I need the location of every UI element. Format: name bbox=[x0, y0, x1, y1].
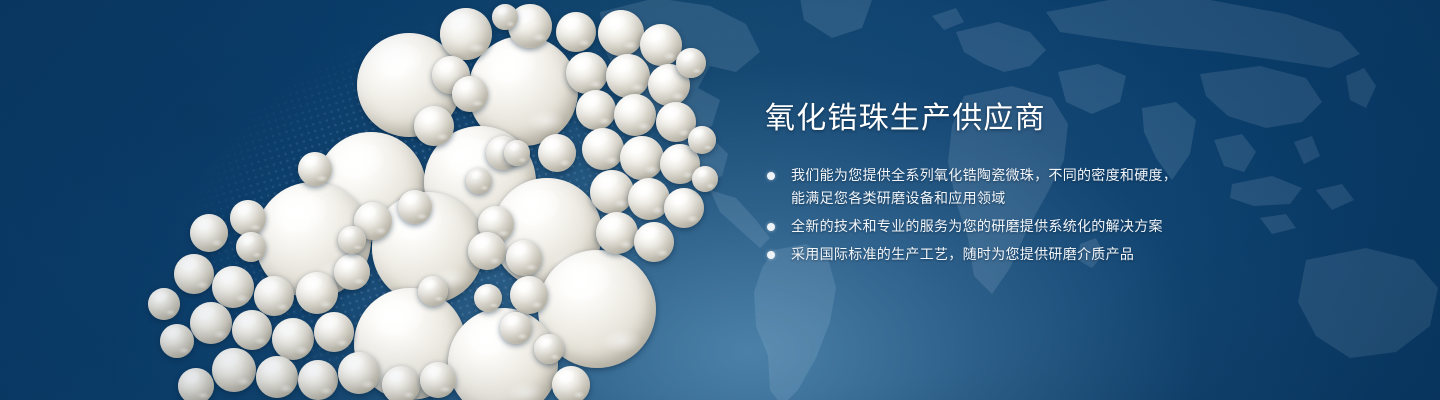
bullet-dot-icon bbox=[767, 172, 775, 180]
list-item-line: 采用国际标准的生产工艺，随时为您提供研磨介质产品 bbox=[791, 243, 1385, 266]
list-item: 全新的技术和专业的服务为您的研磨提供系统化的解决方案 bbox=[765, 215, 1385, 238]
bullet-dot-icon bbox=[767, 251, 775, 259]
list-item-line: 我们能为您提供全系列氧化锆陶瓷微珠，不同的密度和硬度， bbox=[791, 164, 1385, 187]
promo-banner: 氧化锆珠生产供应商 我们能为您提供全系列氧化锆陶瓷微珠，不同的密度和硬度， 能满… bbox=[0, 0, 1440, 400]
banner-copy: 氧化锆珠生产供应商 我们能为您提供全系列氧化锆陶瓷微珠，不同的密度和硬度， 能满… bbox=[765, 104, 1385, 266]
feature-list: 我们能为您提供全系列氧化锆陶瓷微珠，不同的密度和硬度， 能满足您各类研磨设备和应… bbox=[765, 164, 1385, 266]
list-item: 采用国际标准的生产工艺，随时为您提供研磨介质产品 bbox=[765, 243, 1385, 266]
page-title: 氧化锆珠生产供应商 bbox=[765, 104, 1385, 134]
bullet-dot-icon bbox=[767, 223, 775, 231]
list-item: 我们能为您提供全系列氧化锆陶瓷微珠，不同的密度和硬度， 能满足您各类研磨设备和应… bbox=[765, 164, 1385, 210]
list-item-line: 全新的技术和专业的服务为您的研磨提供系统化的解决方案 bbox=[791, 215, 1385, 238]
list-item-line: 能满足您各类研磨设备和应用领域 bbox=[791, 187, 1385, 210]
